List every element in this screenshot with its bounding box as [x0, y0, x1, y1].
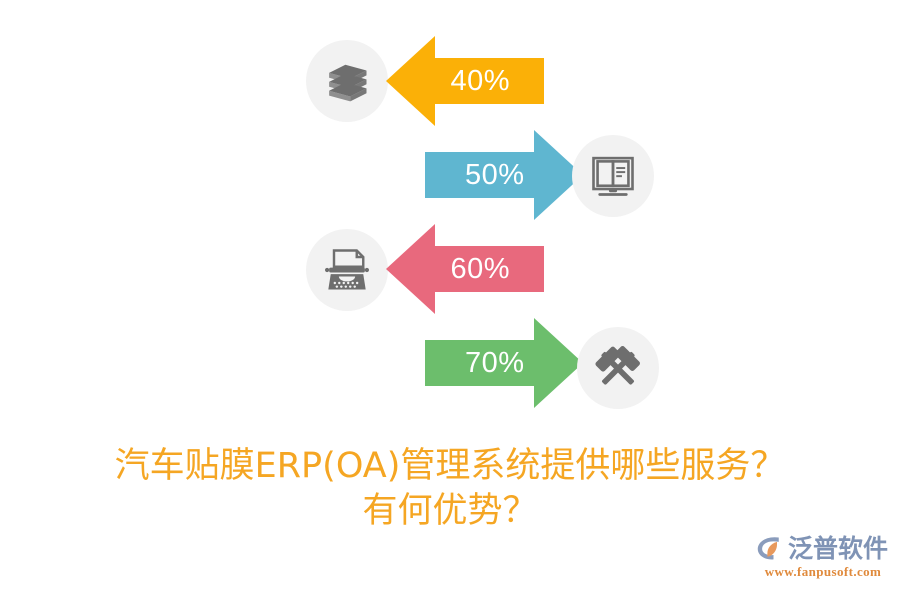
icon-circle-open-book — [572, 135, 654, 217]
logo-name: 泛普软件 — [788, 536, 888, 561]
arrow-shape-right — [425, 130, 583, 220]
arrow-shape-right — [425, 318, 583, 408]
headline-line-1: 汽车贴膜ERP(OA)管理系统提供哪些服务？ — [0, 444, 900, 489]
stacked-books-icon — [321, 55, 373, 107]
logo-url: www.fanpusoft.com — [756, 564, 890, 580]
fanpu-leaf-logo-icon — [756, 534, 784, 562]
icon-circle-stacked-books — [306, 40, 388, 122]
icon-circle-crossed-hammers — [577, 327, 659, 409]
infographic-canvas: 40% 50% — [0, 0, 900, 600]
icon-circle-typewriter — [306, 229, 388, 311]
crossed-hammers-icon — [592, 342, 644, 394]
headline: 汽车贴膜ERP(OA)管理系统提供哪些服务？ 有何优势？ — [0, 444, 900, 534]
headline-line-2: 有何优势？ — [0, 489, 900, 534]
arrow-shape-left — [386, 224, 544, 314]
arrow-row-4: 70% — [425, 318, 583, 408]
typewriter-icon — [321, 244, 373, 296]
brand-logo: 泛普软件 www.fanpusoft.com — [756, 534, 890, 590]
logo-row: 泛普软件 — [756, 534, 890, 562]
open-book-icon — [587, 150, 639, 202]
arrow-row-3: 60% — [386, 224, 544, 314]
arrow-shape-left — [386, 36, 544, 126]
arrow-row-2: 50% — [425, 130, 583, 220]
arrow-row-1: 40% — [386, 36, 544, 126]
